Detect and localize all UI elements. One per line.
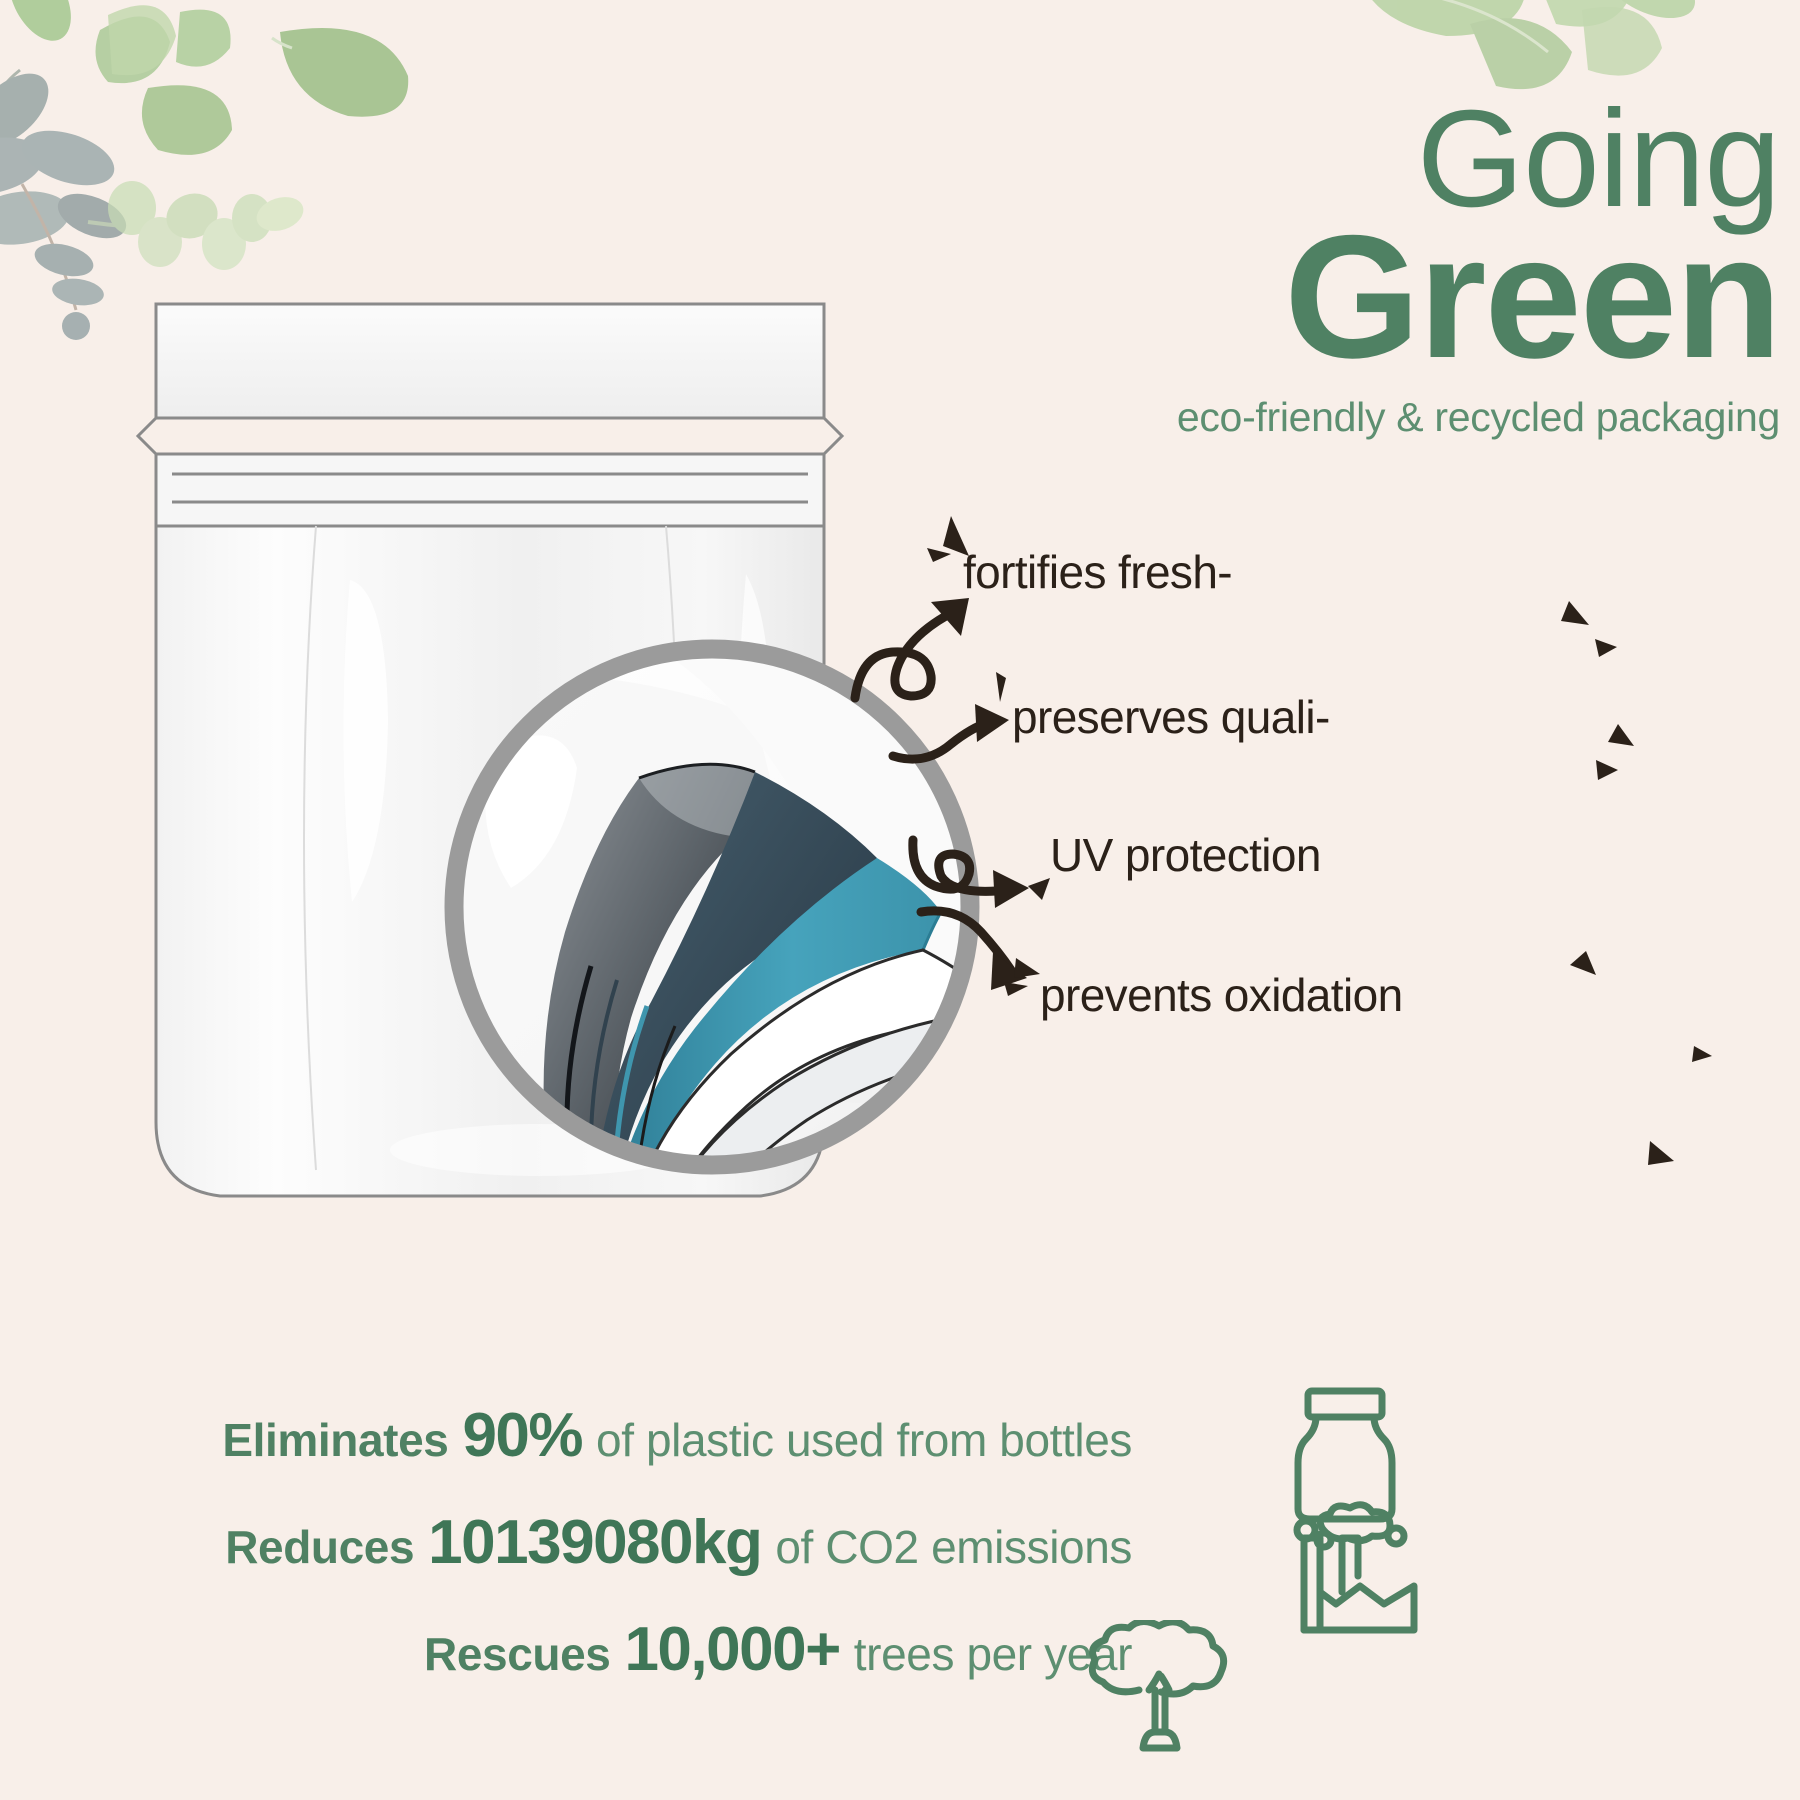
callout-preserves-quality: preserves quali- xyxy=(1012,690,1330,744)
stat-row-trees: Rescues 10,000+ trees per year xyxy=(0,1614,1150,1685)
stat-lead-0: Eliminates xyxy=(222,1413,448,1467)
page-subtitle: eco-friendly & recycled packaging xyxy=(1040,394,1780,441)
spark-accent-right-mid xyxy=(1590,720,1670,810)
callout-fortifies-freshness: fortifies fresh- xyxy=(963,545,1232,599)
callout-prevents-oxidation: prevents oxidation xyxy=(1040,968,1403,1022)
callout-label-0: fortifies fresh- xyxy=(963,545,1232,599)
infographic-canvas: Going Green eco-friendly & recycled pack… xyxy=(0,0,1800,1800)
stat-value-1: 10139080kg xyxy=(428,1507,761,1578)
impact-statistics: Eliminates 90% of plastic used from bott… xyxy=(0,1400,1150,1721)
stat-tail-1: of CO2 emissions xyxy=(775,1520,1132,1574)
stat-row-plastic: Eliminates 90% of plastic used from bott… xyxy=(0,1400,1150,1471)
page-title-block: Going Green eco-friendly & recycled pack… xyxy=(1040,95,1780,441)
spark-accent-oxidation xyxy=(1688,1038,1738,1088)
callout-label-1: preserves quali- xyxy=(1012,690,1330,744)
stat-row-co2: Reduces 10139080kg of CO2 emissions xyxy=(0,1507,1150,1578)
stat-lead-1: Reduces xyxy=(225,1520,414,1574)
tree-icon xyxy=(1085,1620,1235,1760)
callout-label-3: prevents oxidation xyxy=(1040,968,1403,1022)
stat-lead-2: Rescues xyxy=(424,1627,610,1681)
callout-uv-protection: UV protection xyxy=(1050,828,1321,882)
title-line-green: Green xyxy=(1040,217,1780,378)
spark-accent-right-uv xyxy=(1548,945,1608,1005)
stat-value-2: 10,000+ xyxy=(624,1614,839,1685)
spark-accent-right-top xyxy=(1555,595,1635,675)
stat-value-0: 90% xyxy=(462,1400,582,1471)
callout-label-2: UV protection xyxy=(1050,828,1321,882)
factory-icon xyxy=(1278,1500,1423,1640)
spark-accent-right-bottom xyxy=(1640,1135,1700,1195)
stat-tail-0: of plastic used from bottles xyxy=(596,1413,1132,1467)
